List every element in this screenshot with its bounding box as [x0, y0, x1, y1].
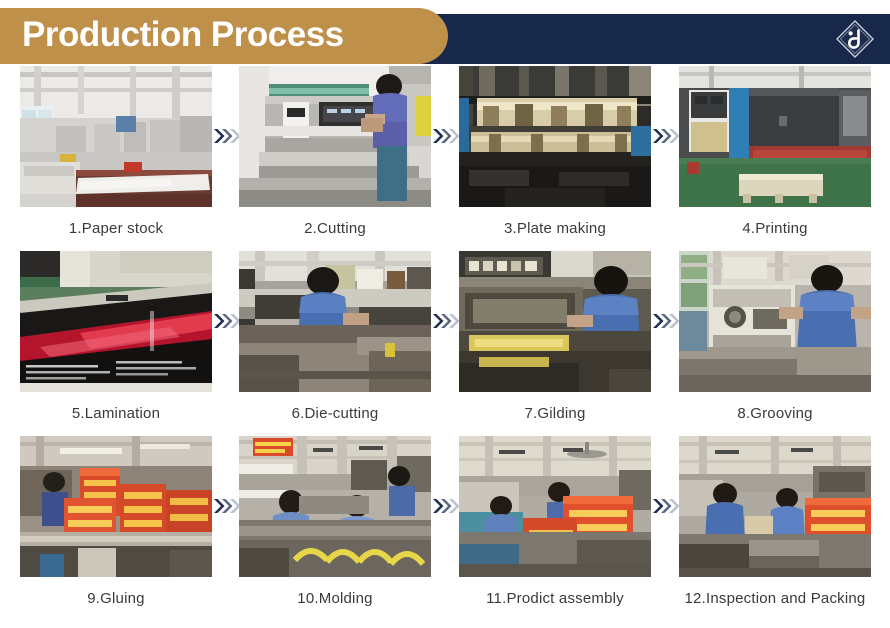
page-title: Production Process	[22, 11, 344, 59]
triple-chevron-right-icon	[653, 312, 679, 330]
process-step-1[interactable]: 1.Paper stock	[20, 66, 212, 251]
process-row-2: 5.Lamination	[0, 251, 890, 436]
triple-chevron-right-icon	[214, 312, 240, 330]
worker-at-gilding-machine-photo	[459, 251, 651, 392]
process-step-12[interactable]: 12.Inspection and Packing	[679, 436, 871, 621]
process-step-4[interactable]: 4.Printing	[679, 66, 871, 251]
process-step-3[interactable]: 3.Plate making	[459, 66, 651, 251]
triple-chevron-right-icon	[653, 127, 679, 145]
warehouse-paper-stock-photo	[20, 66, 212, 207]
process-row-1: 1.Paper stock	[0, 66, 890, 251]
process-step-7[interactable]: 7.Gilding	[459, 251, 651, 436]
step-caption: 4.Printing	[679, 207, 871, 237]
triple-chevron-right-icon	[433, 497, 459, 515]
offset-printing-press-photo	[679, 66, 871, 207]
page-header: Production Process	[0, 0, 890, 66]
process-step-8[interactable]: 8.Grooving	[679, 251, 871, 436]
worker-at-paper-cutting-machine-photo	[239, 66, 431, 207]
step-caption: 8.Grooving	[679, 392, 871, 422]
step-caption: 9.Gluing	[20, 577, 212, 607]
step-caption: 5.Lamination	[20, 392, 212, 422]
process-step-6[interactable]: 6.Die-cutting	[239, 251, 431, 436]
step-caption: 10.Molding	[239, 577, 431, 607]
worker-at-die-cutting-machine-photo	[239, 251, 431, 392]
header-navy-band	[420, 14, 890, 64]
gluing-line-with-red-boxes-photo	[20, 436, 212, 577]
laminated-red-black-sheet-photo	[20, 251, 212, 392]
worker-at-grooving-machine-photo	[679, 251, 871, 392]
process-step-11[interactable]: 11.Prodict assembly	[459, 436, 651, 621]
molding-assembly-line-workers-photo	[239, 436, 431, 577]
triple-chevron-right-icon	[433, 312, 459, 330]
step-caption: 3.Plate making	[459, 207, 651, 237]
step-caption: 11.Prodict assembly	[440, 577, 670, 607]
process-step-9[interactable]: 9.Gluing	[20, 436, 212, 621]
plate-making-machine-photo	[459, 66, 651, 207]
triple-chevron-right-icon	[653, 497, 679, 515]
process-grid: 1.Paper stock	[0, 66, 890, 621]
inspection-and-packing-workshop-photo	[679, 436, 871, 577]
process-step-2[interactable]: 2.Cutting	[239, 66, 431, 251]
step-caption: 1.Paper stock	[20, 207, 212, 237]
triple-chevron-right-icon	[214, 127, 240, 145]
product-assembly-workshop-photo	[459, 436, 651, 577]
step-caption: 2.Cutting	[239, 207, 431, 237]
process-row-3: 9.Gluing	[0, 436, 890, 621]
triple-chevron-right-icon	[214, 497, 240, 515]
process-step-10[interactable]: 10.Molding	[239, 436, 431, 621]
process-step-5[interactable]: 5.Lamination	[20, 251, 212, 436]
diamond-monogram-logo-icon	[836, 20, 874, 58]
step-caption: 6.Die-cutting	[239, 392, 431, 422]
step-caption: 7.Gilding	[459, 392, 651, 422]
step-caption: 12.Inspection and Packing	[660, 577, 890, 607]
triple-chevron-right-icon	[433, 127, 459, 145]
